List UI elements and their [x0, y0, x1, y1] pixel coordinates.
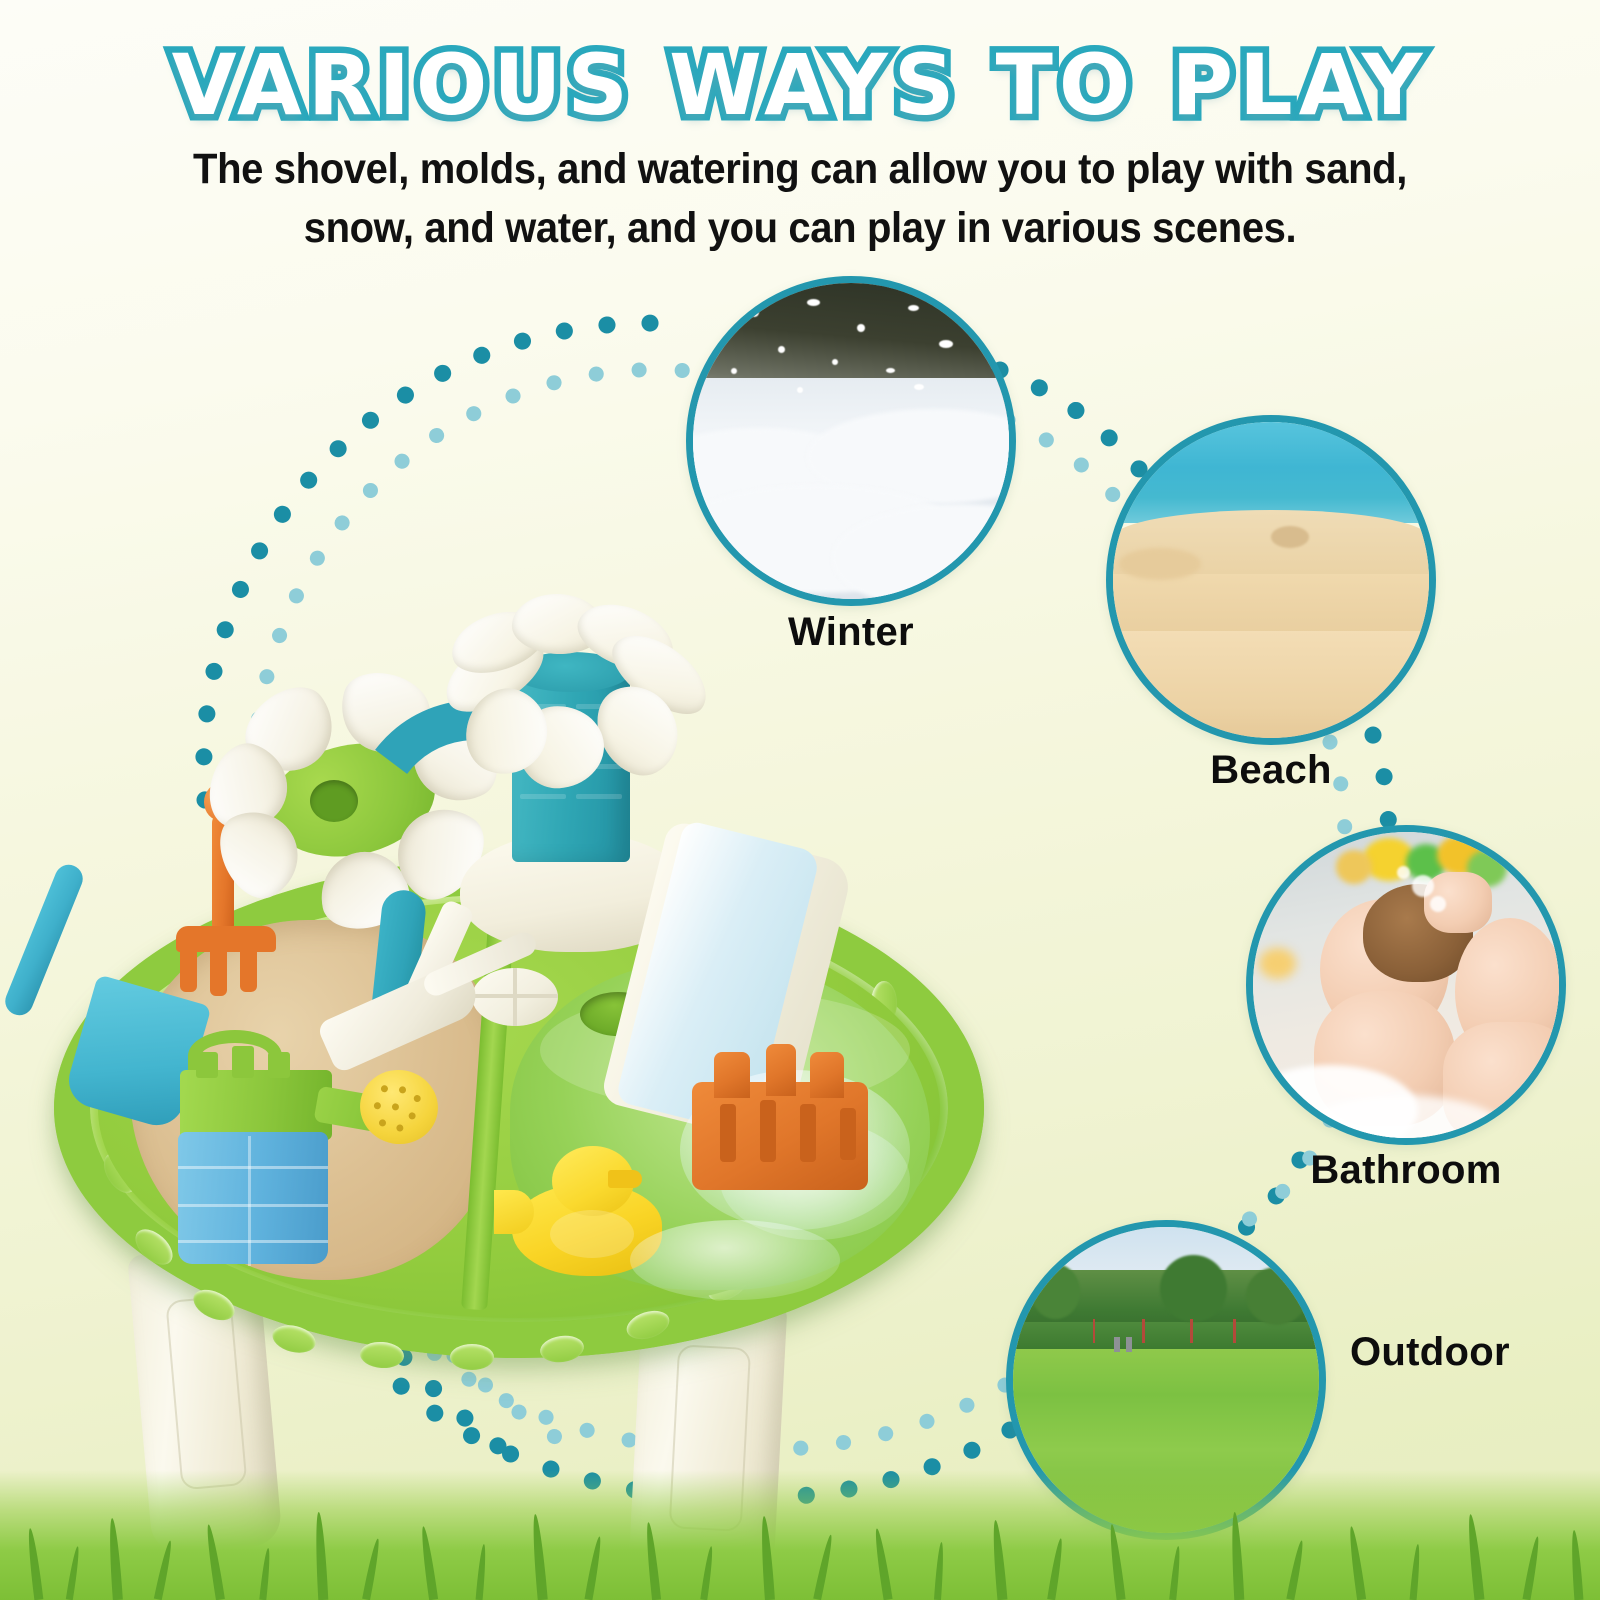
scene-circle-bathroom[interactable] [1246, 825, 1566, 1145]
can-battlement [232, 1046, 254, 1078]
mold-detail [810, 1052, 844, 1098]
scene-circle-winter[interactable] [686, 276, 1016, 606]
can-battlement [268, 1052, 290, 1078]
scene-label-bathroom: Bathroom [1246, 1148, 1566, 1193]
rake-tine [210, 948, 227, 996]
can-battlement [196, 1052, 218, 1078]
product-illustration [20, 600, 1010, 1560]
rake-tine [240, 948, 257, 992]
watering-can-body [178, 1132, 328, 1264]
bathroom-photo [1253, 832, 1559, 1138]
page-subtitle: The shovel, molds, and watering can allo… [168, 140, 1433, 259]
mold-detail [714, 1052, 750, 1098]
infographic-canvas: VARIOUS WAYS TO PLAY The shovel, molds, … [0, 0, 1600, 1600]
watering-can-top [180, 1070, 332, 1140]
page-title: VARIOUS WAYS TO PLAY [172, 36, 1429, 134]
scene-circle-beach[interactable] [1106, 415, 1436, 745]
path-winter-to-beach-light [1008, 420, 1118, 500]
winter-photo [693, 283, 1009, 599]
grass-strip [0, 1470, 1600, 1600]
page-title-wrap: VARIOUS WAYS TO PLAY [0, 36, 1600, 134]
blue-shovel-handle [1, 861, 87, 1020]
rim-bump [450, 1344, 494, 1370]
rake-tine [180, 948, 197, 992]
mold-detail [766, 1044, 796, 1096]
scene-label-beach: Beach [1106, 748, 1436, 793]
beach-photo [1113, 422, 1429, 738]
scene-label-outdoor: Outdoor [1350, 1330, 1510, 1375]
white-mold-seam [472, 994, 558, 998]
duck-splash [630, 1220, 840, 1300]
